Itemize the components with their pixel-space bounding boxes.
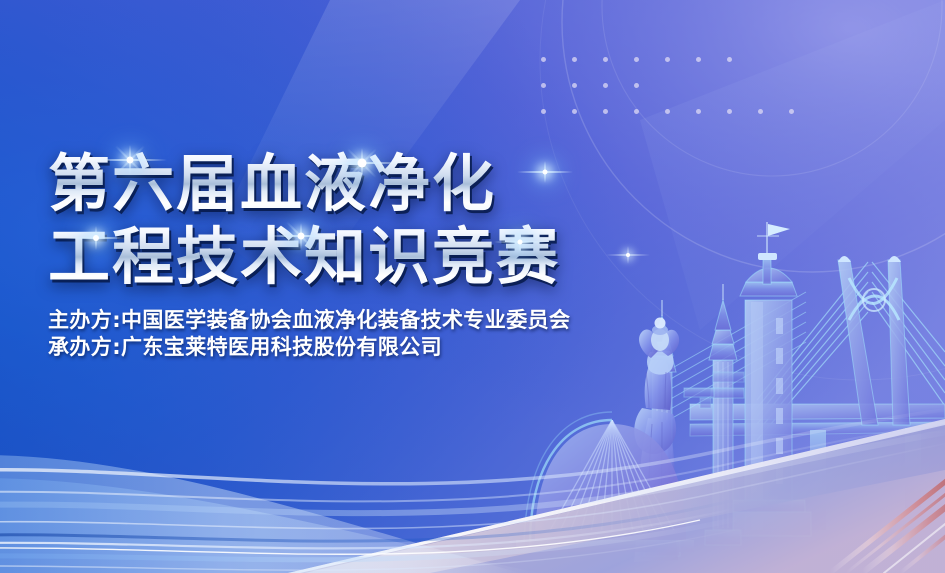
page-title: 第六届血液净化 工程技术知识竞赛 bbox=[48, 148, 668, 293]
undertaker-line: 承办方:广东宝莱特医用科技股份有限公司 bbox=[48, 334, 668, 361]
title-line-1: 第六届血液净化 bbox=[48, 148, 668, 220]
subtitle-block: 主办方:中国医学装备协会血液净化装备技术专业委员会 承办方:广东宝莱特医用科技股… bbox=[48, 307, 668, 361]
event-banner: 第六届血液净化 工程技术知识竞赛 主办方:中国医学装备协会血液净化装备技术专业委… bbox=[0, 0, 945, 573]
title-line-2: 工程技术知识竞赛 bbox=[48, 221, 668, 293]
organizer-line: 主办方:中国医学装备协会血液净化装备技术专业委员会 bbox=[48, 307, 668, 334]
text-block: 第六届血液净化 工程技术知识竞赛 主办方:中国医学装备协会血液净化装备技术专业委… bbox=[48, 148, 668, 361]
